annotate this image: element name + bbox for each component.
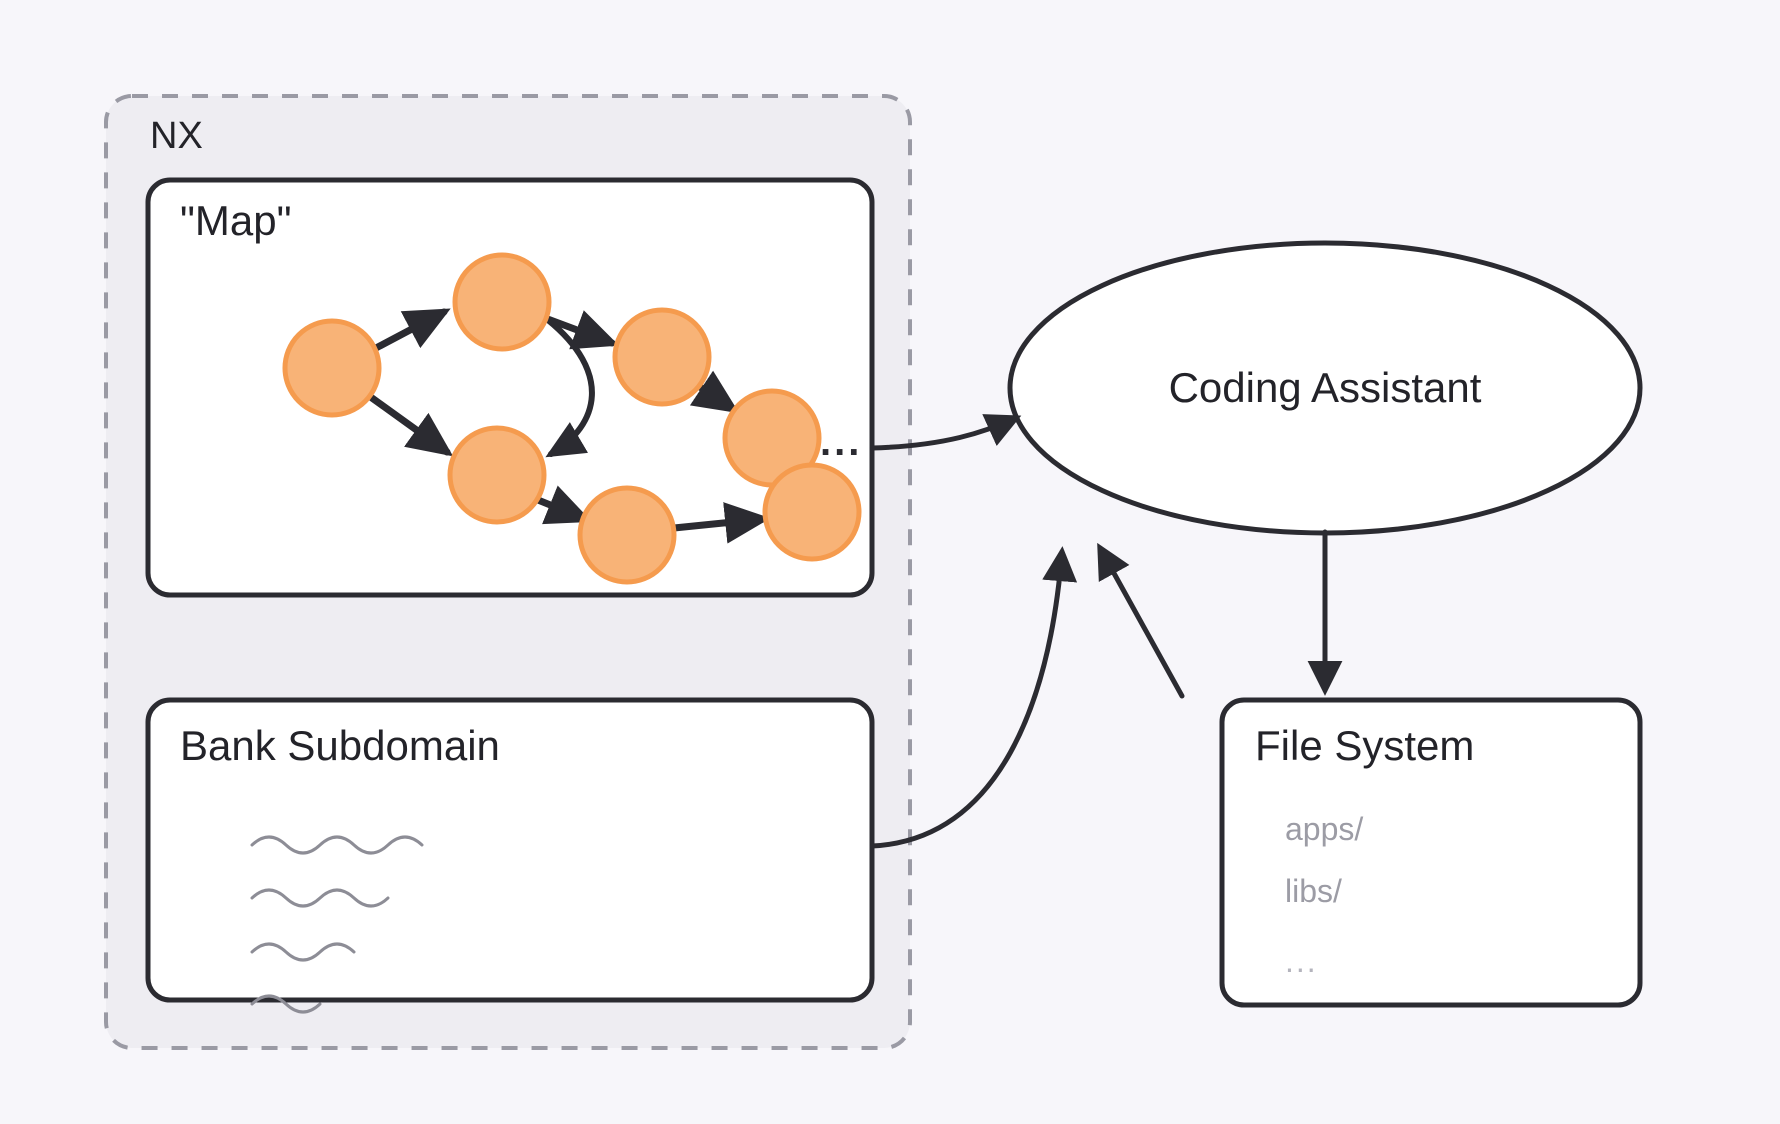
map-card-title: "Map"	[180, 197, 292, 244]
file-system-entry-libs: libs/	[1285, 873, 1342, 909]
diagram-canvas: NX "Map"	[0, 0, 1780, 1124]
graph-node[interactable]	[580, 488, 674, 582]
arrow-filesystem-to-assistant	[1100, 548, 1182, 696]
map-card[interactable]: "Map" ...	[148, 180, 872, 595]
graph-node[interactable]	[450, 428, 544, 522]
map-graph-ellipsis: ...	[820, 420, 862, 464]
graph-node[interactable]	[615, 310, 709, 404]
file-system-entry-apps: apps/	[1285, 811, 1363, 847]
coding-assistant-label: Coding Assistant	[1169, 364, 1482, 411]
bank-subdomain-card[interactable]: Bank Subdomain	[148, 700, 872, 1012]
graph-node[interactable]	[285, 321, 379, 415]
graph-node[interactable]	[455, 255, 549, 349]
bank-subdomain-title: Bank Subdomain	[180, 722, 500, 769]
file-system-entry-ellipsis: ...	[1285, 943, 1318, 979]
nx-container-label: NX	[150, 115, 203, 157]
coding-assistant-node[interactable]: Coding Assistant	[1010, 243, 1640, 533]
file-system-card[interactable]: File System apps/ libs/ ...	[1222, 700, 1640, 1005]
architecture-diagram: NX "Map"	[0, 0, 1780, 1124]
file-system-title: File System	[1255, 722, 1474, 769]
graph-node[interactable]	[765, 465, 859, 559]
